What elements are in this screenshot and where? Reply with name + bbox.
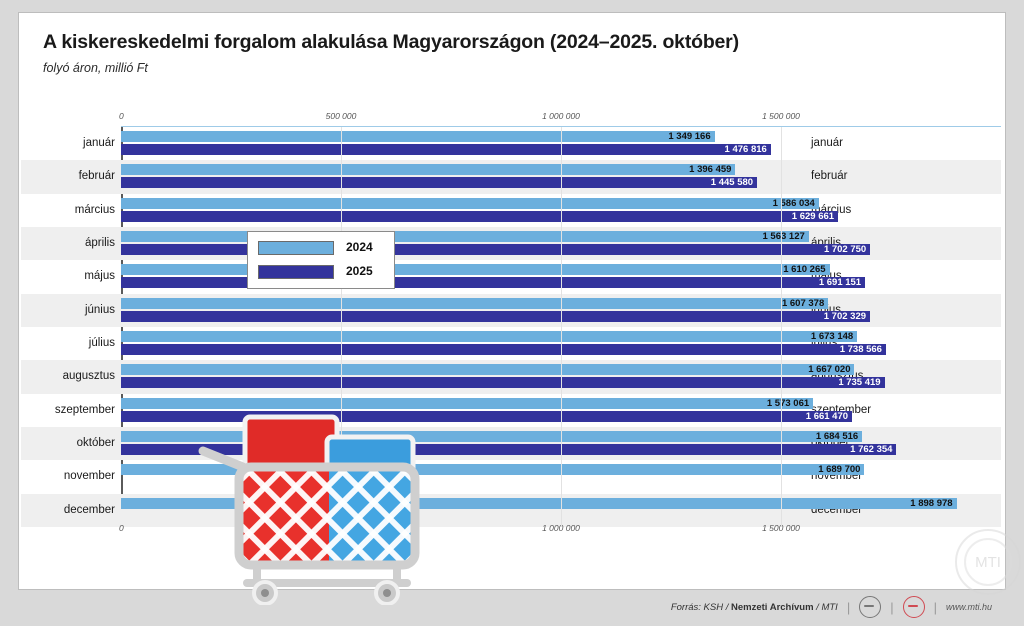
footer-url: www.mti.hu [946,602,992,612]
bar-2024-április [121,231,809,242]
bar-2025-január [121,144,771,155]
chart-row: augusztusaugusztus1 667 0201 735 419 [21,360,1001,393]
bar-value-2025-április: 1 702 750 [824,244,866,255]
axis-tick-top-0: 0 [119,111,124,121]
chart-row: júliusjúlius1 673 1481 738 566 [21,327,1001,360]
bar-value-2024-július: 1 673 148 [811,331,853,342]
chart-row: februárfebruár1 396 4591 445 580 [21,160,1001,193]
bar-value-2025-március: 1 629 661 [792,211,834,222]
chart-row: márciusmárcius1 586 0341 629 661 [21,194,1001,227]
footer-divider-2: | [890,600,893,615]
legend-label-2024: 2024 [346,240,373,254]
bar-2024-március [121,198,819,209]
row-label-left-augusztus: augusztus [21,360,115,393]
chart-row: novembernovember1 689 700 [21,460,1001,493]
bar-value-2025-július: 1 738 566 [840,344,882,355]
chart-subtitle: folyó áron, millió Ft [43,61,148,75]
row-label-left-július: július [21,327,115,360]
bar-value-2024-április: 1 563 127 [763,231,805,242]
bar-rows: januárjanuár1 349 1661 476 816februárfeb… [21,127,1001,527]
legend-swatch-2024 [258,241,334,255]
axis-tick-top-3: 1 500 000 [762,111,800,121]
bar-value-2025-augusztus: 1 735 419 [838,377,880,388]
mti-logo-icon [903,596,925,618]
chart-page: A kiskereskedelmi forgalom alakulása Mag… [0,0,1024,626]
bar-value-2024-február: 1 396 459 [689,164,731,175]
footer: Forrás: KSH / Nemzeti Archívum / MTI | |… [18,592,1006,622]
chart-row: júniusjúnius1 607 3781 702 329 [21,294,1001,327]
row-label-left-október: október [21,427,115,460]
chart-row: októberoktóber1 684 5161 762 354 [21,427,1001,460]
row-label-left-március: március [21,194,115,227]
row-label-left-május: május [21,260,115,293]
source-prefix: Forrás: KSH / [671,602,731,613]
bar-value-2024-december: 1 898 978 [910,498,952,509]
bar-value-2025-január: 1 476 816 [725,144,767,155]
bar-value-2024-augusztus: 1 667 020 [808,364,850,375]
mti-watermark-text: MTI [975,554,1001,571]
axis-tick-top-2: 1 000 000 [542,111,580,121]
bar-value-2025-június: 1 702 329 [824,311,866,322]
chart-legend: 2024 2025 [247,231,395,289]
bar-2025-március [121,211,838,222]
bar-value-2024-október: 1 684 516 [816,431,858,442]
chart-row: decemberdecember1 898 978 [21,494,1001,527]
bar-2024-augusztus [121,364,854,375]
bar-value-2025-szeptember: 1 661 470 [806,411,848,422]
bar-2025-június [121,311,870,322]
bar-value-2025-október: 1 762 354 [850,444,892,455]
gridline-2 [561,127,562,527]
footer-divider-1: | [847,600,850,615]
chart-row: januárjanuár1 349 1661 476 816 [21,127,1001,160]
bar-2025-február [121,177,757,188]
row-label-left-június: június [21,294,115,327]
bar-value-2024-január: 1 349 166 [668,131,710,142]
bar-2025-május [121,277,865,288]
axis-tick-top-1: 500 000 [326,111,357,121]
gridline-3 [781,127,782,527]
bar-value-2025-február: 1 445 580 [711,177,753,188]
footer-divider-3: | [934,600,937,615]
row-label-left-november: november [21,460,115,493]
bar-2024-július [121,331,857,342]
source-suffix: / MTI [814,602,838,613]
row-label-left-január: január [21,127,115,160]
chart-row: májusmájus1 610 2651 691 151 [21,260,1001,293]
row-label-left-április: április [21,227,115,260]
chart-card: A kiskereskedelmi forgalom alakulása Mag… [18,12,1006,590]
source-credit: Forrás: KSH / Nemzeti Archívum / MTI [671,602,838,613]
bar-2025-július [121,344,886,355]
bar-value-2024-március: 1 586 034 [773,198,815,209]
bar-value-2024-szeptember: 1 573 061 [767,398,809,409]
chart-row: áprilisáprilis1 563 1271 702 750 [21,227,1001,260]
source-bold: Nemzeti Archívum [731,602,814,613]
bar-2024-május [121,264,830,275]
bar-2025-augusztus [121,377,885,388]
legend-label-2025: 2025 [346,264,373,278]
bar-2024-június [121,298,828,309]
page-title: A kiskereskedelmi forgalom alakulása Mag… [43,31,739,54]
chart-row: szeptemberszeptember1 573 0611 661 470 [21,394,1001,427]
bar-value-2024-november: 1 689 700 [818,464,860,475]
bar-2024-február [121,164,735,175]
bar-value-2024-május: 1 610 265 [783,264,825,275]
row-label-left-február: február [21,160,115,193]
legend-swatch-2025 [258,265,334,279]
row-label-left-december: december [21,494,115,527]
bar-2024-január [121,131,715,142]
bar-value-2024-június: 1 607 378 [782,298,824,309]
bar-2025-április [121,244,870,255]
row-label-left-szeptember: szeptember [21,394,115,427]
bar-value-2025-május: 1 691 151 [819,277,861,288]
shopping-cart-illustration [187,405,443,605]
archive-logo-icon [859,596,881,618]
axis-tick-bottom-0: 0 [119,523,124,533]
mti-watermark: MTI [951,525,1024,599]
